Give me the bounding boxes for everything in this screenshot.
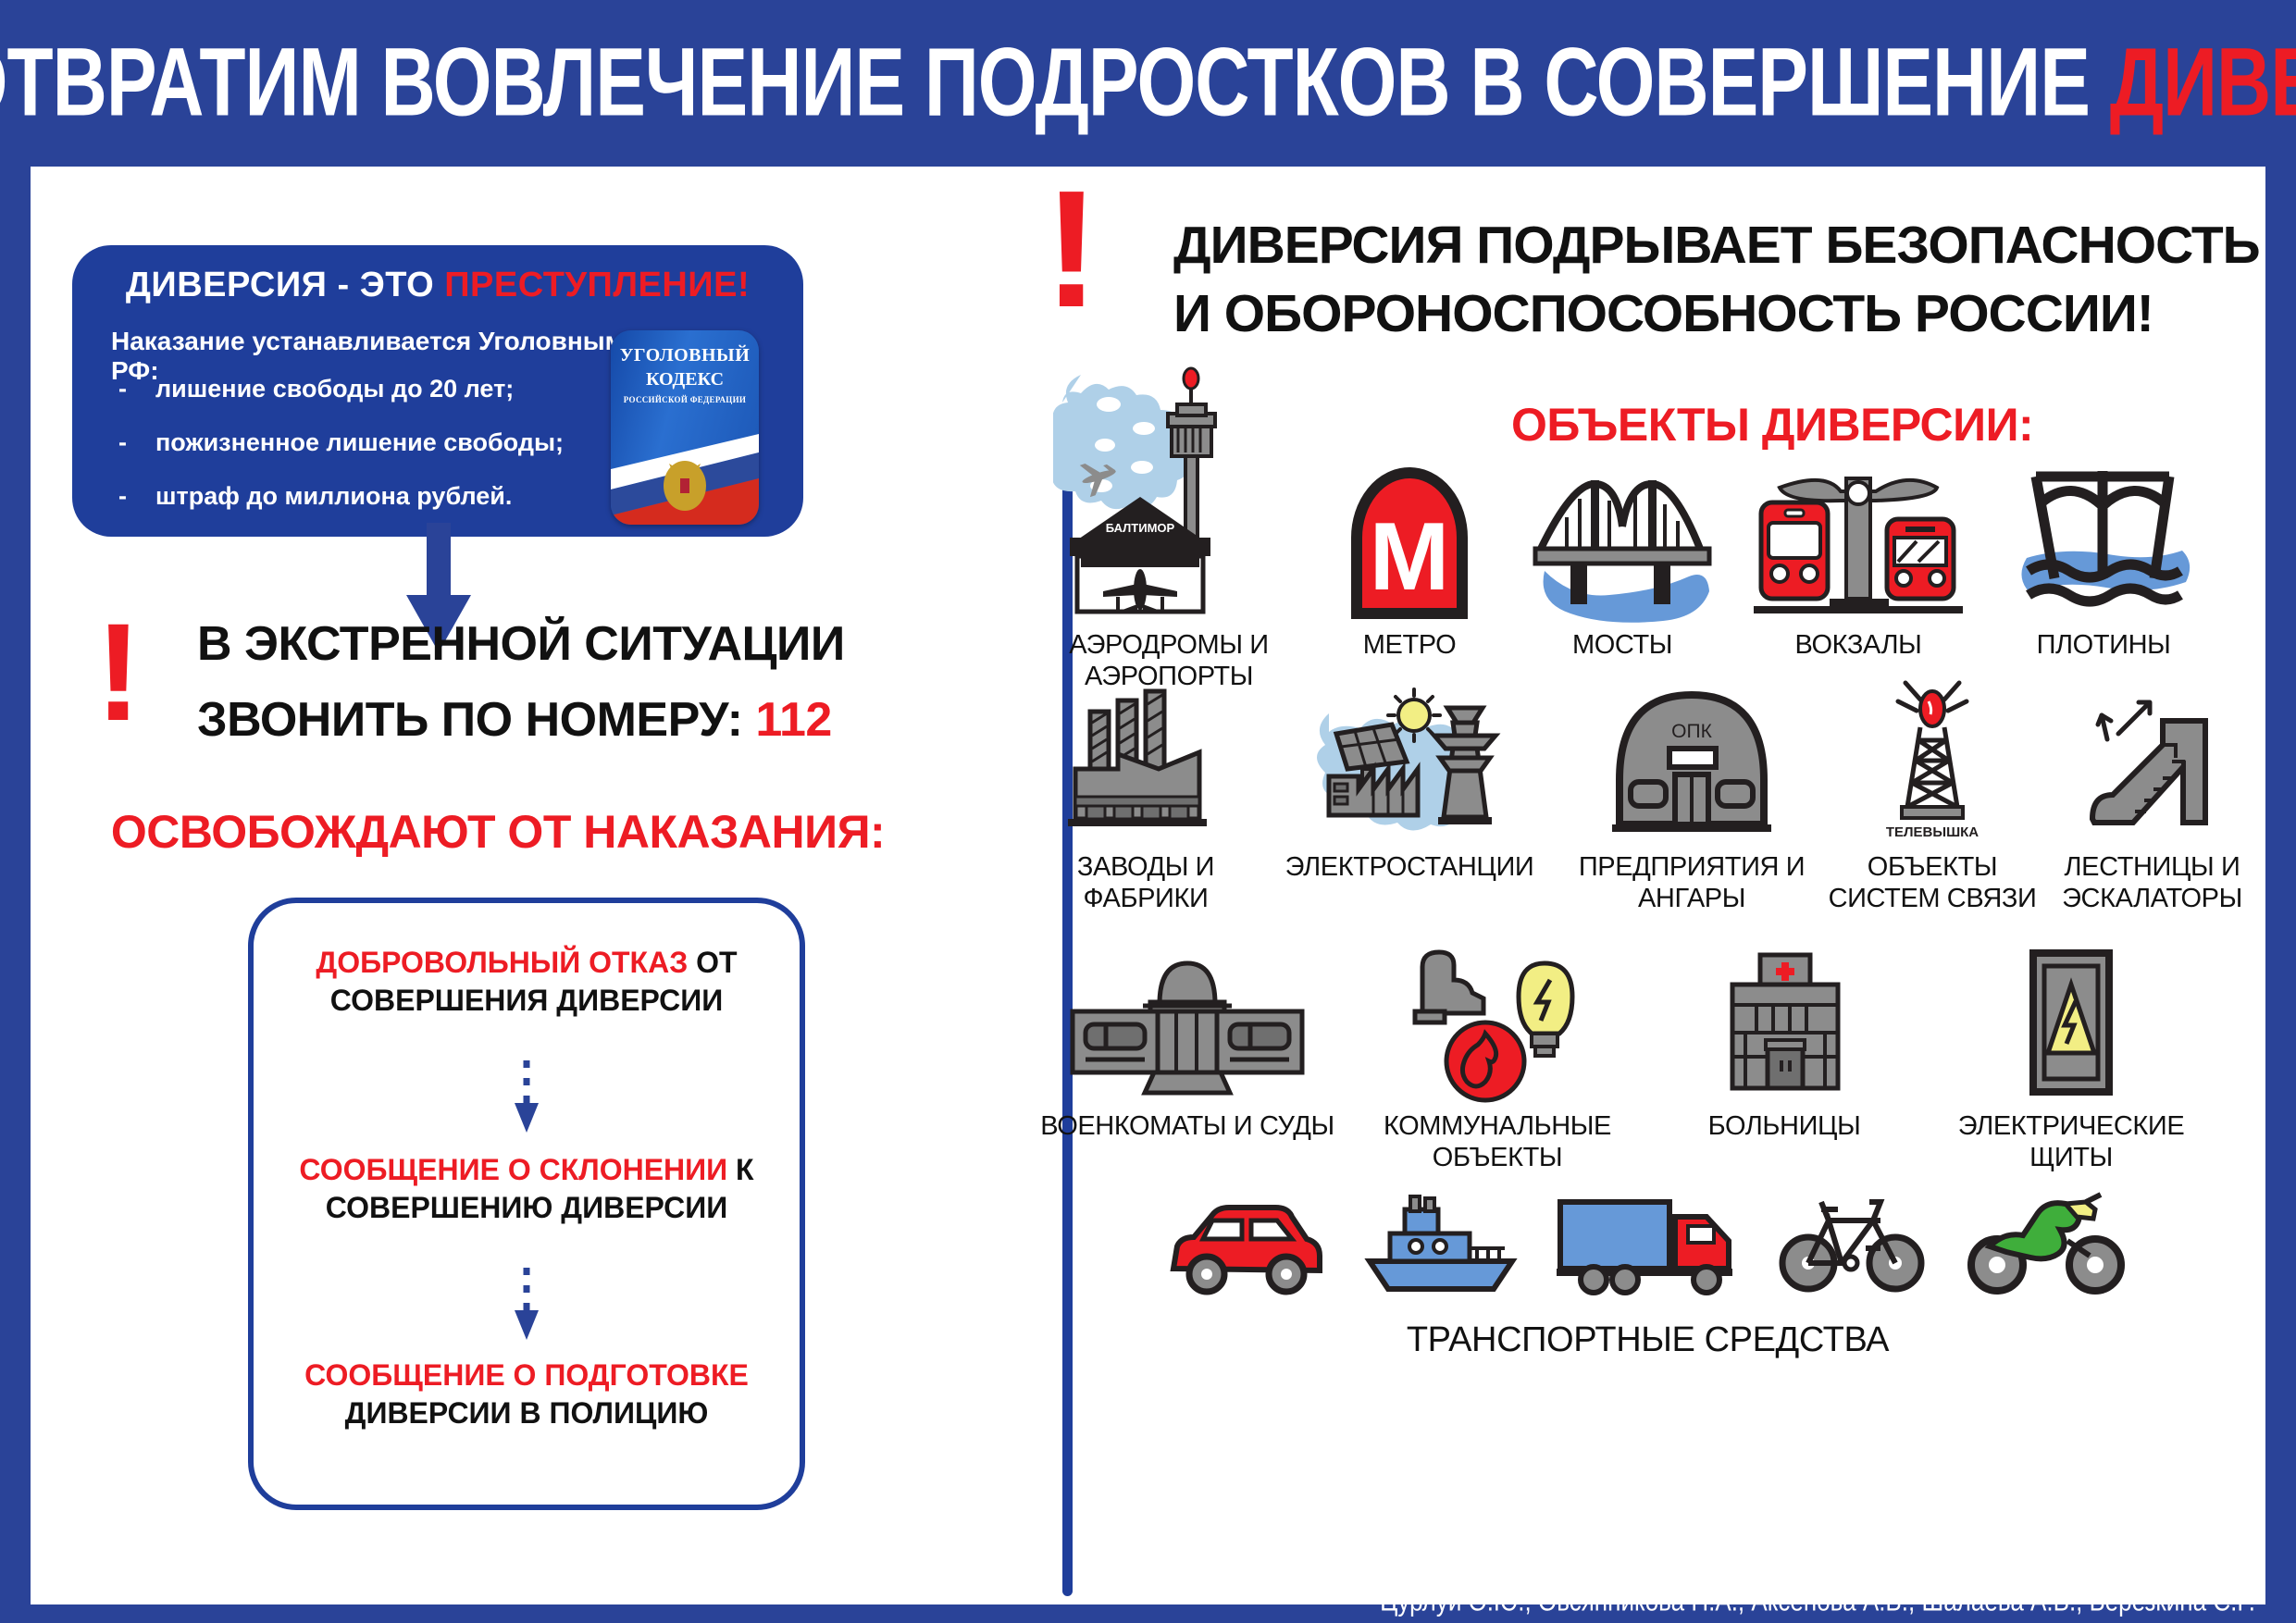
object-label: ПЛОТИНЫ <box>2037 630 2171 662</box>
emergency-line-1: В ЭКСТРЕННОЙ СИТУАЦИИ <box>197 616 845 672</box>
list-item: лишение свободы до 20 лет; <box>111 375 592 403</box>
release-step-3: СООБЩЕНИЕ О ПОДГОТОВКЕ ДИВЕРСИИ В ПОЛИЦИ… <box>254 1357 800 1432</box>
object-label: ЗАВОДЫ ИФАБРИКИ <box>1077 852 1214 914</box>
poster-body: ДИВЕРСИЯ - ЭТО ПРЕСТУПЛЕНИЕ! Наказание у… <box>31 167 2265 1604</box>
train-station-icon <box>1752 356 1965 625</box>
object-label: ЛЕСТНИЦЫ ИЭСКАЛАТОРЫ <box>2062 852 2242 914</box>
dotted-down-arrow-icon <box>511 1266 542 1345</box>
object-item-power-plant: ЭЛЕКТРОСТАНЦИИ <box>1261 671 1558 914</box>
object-item-government: ВОЕНКОМАТЫ И СУДЫ <box>1030 939 1345 1173</box>
step-1-black: ОТ <box>696 946 737 979</box>
release-step-1: ДОБРОВОЛЬНЫЙ ОТКАЗ ОТ СОВЕРШЕНИЯ ДИВЕРСИ… <box>254 944 800 1020</box>
card-heading-red: ПРЕСТУПЛЕНИЕ <box>444 266 738 304</box>
exclamation-icon: ! <box>95 618 142 726</box>
step-2-line2: СОВЕРШЕНИЮ ДИВЕРСИИ <box>326 1191 727 1224</box>
objects-row-3: ВОЕНКОМАТЫ И СУДЫ <box>1030 939 2265 1173</box>
page-title: ПРЕДОТВРАТИМ ВОВЛЕЧЕНИЕ ПОДРОСТКОВ В СОВ… <box>0 28 2296 139</box>
list-item: пожизненное лишение свободы; <box>111 428 592 457</box>
left-column: ДИВЕРСИЯ - ЭТО ПРЕСТУПЛЕНИЕ! Наказание у… <box>31 167 1030 1604</box>
title-main: ПРЕДОТВРАТИМ ВОВЛЕЧЕНИЕ ПОДРОСТКОВ В СОВ… <box>0 29 2110 136</box>
objects-row-1: БАЛТИМОР АЭРОДРОМЫ ИАЭРОПОРТЫ <box>1030 356 2265 692</box>
government-building-icon <box>1058 939 1317 1106</box>
exclamation-icon: ! <box>1044 190 1099 310</box>
airport-hangar-icon: БАЛТИМОР <box>1053 356 1285 625</box>
list-item: штраф до миллиона рублей. <box>111 482 592 511</box>
object-item-airport: БАЛТИМОР АЭРОДРОМЫ ИАЭРОПОРТЫ <box>1030 356 1308 692</box>
motorcycle-icon <box>1958 1189 2134 1305</box>
suspension-bridge-icon <box>1530 356 1715 625</box>
step-1-line2: СОВЕРШЕНИЯ ДИВЕРСИИ <box>330 984 723 1017</box>
electrical-panel-icon <box>2002 939 2141 1106</box>
object-item-comms-tower: ТЕЛЕВЫШКА ОБЪЕКТЫСИСТЕМ СВЯЗИ <box>1826 671 2039 914</box>
car-icon <box>1162 1198 1329 1305</box>
emergency-line-2: ЗВОНИТЬ ПО НОМЕРУ: 112 <box>197 692 832 748</box>
truck-icon <box>1551 1189 1745 1305</box>
object-item-hospital: БОЛЬНИЦЫ <box>1650 939 1918 1173</box>
object-label: ПРЕДПРИЯТИЯ ИАНГАРЫ <box>1579 852 1805 914</box>
object-label: ЭЛЕКТРОСТАНЦИИ <box>1285 852 1534 884</box>
radio-tower-icon: ТЕЛЕВЫШКА <box>1863 671 2002 847</box>
hospital-icon <box>1692 939 1877 1106</box>
object-item-bridge: МОСТЫ <box>1511 356 1733 692</box>
title-highlight: ДИВЕРСИЙ <box>2110 29 2296 136</box>
object-item-dam: ПЛОТИНЫ <box>1983 356 2224 692</box>
metro-m-icon: M <box>1340 356 1479 625</box>
ship-icon <box>1357 1189 1523 1305</box>
metro-letter: M <box>1370 503 1450 611</box>
object-item-hangar: ОПК ПРЕДПРИЯТИЯ ИАНГАРЫ <box>1558 671 1826 914</box>
object-item-train-station: ВОКЗАЛЫ <box>1733 356 1983 692</box>
object-item-escalator: ЛЕСТНИЦЫ ИЭСКАЛАТОРЫ <box>2039 671 2265 914</box>
object-label: ВОЕНКОМАТЫ И СУДЫ <box>1040 1111 1334 1143</box>
escalator-icon <box>2074 671 2231 847</box>
step-2-red: СООБЩЕНИЕ О СКЛОНЕНИИ <box>299 1153 736 1186</box>
release-heading: ОСВОБОЖДАЮТ ОТ НАКАЗАНИЯ: <box>31 805 965 859</box>
hangar-inner-text: БАЛТИМОР <box>1106 521 1175 535</box>
object-label: КОММУНАЛЬНЫЕОБЪЕКТЫ <box>1384 1111 1611 1173</box>
object-label: ВОКЗАЛЫ <box>1795 630 1922 662</box>
card-heading: ДИВЕРСИЯ - ЭТО ПРЕСТУПЛЕНИЕ! <box>72 266 803 305</box>
utilities-icon <box>1382 939 1613 1106</box>
objects-row-4: ТРАНСПОРТНЫЕ СРЕДСТВА <box>1030 1189 2265 1360</box>
emergency-prefix: ЗВОНИТЬ ПО НОМЕРУ: <box>197 693 755 747</box>
hangar-inner-text: ОПК <box>1671 721 1712 742</box>
object-item-utilities: КОММУНАЛЬНЫЕОБЪЕКТЫ <box>1345 939 1650 1173</box>
step-1-red: ДОБРОВОЛЬНЫЙ ОТКАЗ <box>316 946 696 979</box>
security-headline: ДИВЕРСИЯ ПОДРЫВАЕТ БЕЗОПАСНОСТЬ И ОБОРОН… <box>1173 211 2261 348</box>
object-label: МЕТРО <box>1363 630 1456 662</box>
dam-icon <box>2016 356 2191 625</box>
object-item-electrical-panel: ЭЛЕКТРИЧЕСКИЕ ЩИТЫ <box>1918 939 2224 1173</box>
diversion-is-crime-card: ДИВЕРСИЯ - ЭТО ПРЕСТУПЛЕНИЕ! Наказание у… <box>72 245 803 537</box>
emergency-number: 112 <box>755 693 831 747</box>
bicycle-icon <box>1773 1189 1930 1305</box>
object-label: МОСТЫ <box>1572 630 1672 662</box>
power-plant-icon <box>1303 671 1516 847</box>
russian-flag-emblem-icon <box>611 330 759 525</box>
object-item-factory: ЗАВОДЫ ИФАБРИКИ <box>1030 671 1261 914</box>
dotted-down-arrow-icon <box>511 1059 542 1138</box>
headline-line-2: И ОБОРОНОСПОСОБНОСТЬ РОССИИ! <box>1173 279 2261 348</box>
factory-icon <box>1062 671 1229 847</box>
release-conditions-box: ДОБРОВОЛЬНЫЙ ОТКАЗ ОТ СОВЕРШЕНИЯ ДИВЕРСИ… <box>248 898 805 1510</box>
credits-text: Цурлуй О.Ю., Овсянникова Н.А., Аксенова … <box>1380 1584 2255 1618</box>
release-step-2: СООБЩЕНИЕ О СКЛОНЕНИИ К СОВЕРШЕНИЮ ДИВЕР… <box>254 1151 800 1227</box>
object-label: ЭЛЕКТРИЧЕСКИЕ ЩИТЫ <box>1918 1111 2224 1173</box>
poster-title-bar: ПРЕДОТВРАТИМ ВОВЛЕЧЕНИЕ ПОДРОСТКОВ В СОВ… <box>0 0 2296 167</box>
punishment-list: лишение свободы до 20 лет; пожизненное л… <box>111 375 592 536</box>
right-column: ! ДИВЕРСИЯ ПОДРЫВАЕТ БЕЗОПАСНОСТЬ И ОБОР… <box>1030 167 2265 1604</box>
card-heading-plain: ДИВЕРСИЯ - ЭТО <box>126 266 444 304</box>
emergency-call-block: ! В ЭКСТРЕННОЙ СИТУАЦИИ ЗВОНИТЬ ПО НОМЕР… <box>95 611 965 777</box>
transport-label: ТРАНСПОРТНЫЕ СРЕДСТВА <box>1407 1319 1889 1360</box>
criminal-code-book-icon: УГОЛОВНЫЙ КОДЕКС РОССИЙСКОЙ ФЕДЕРАЦИИ <box>611 330 759 525</box>
tower-inner-text: ТЕЛЕВЫШКА <box>1886 824 1979 840</box>
step-2-black: К <box>736 1153 754 1186</box>
object-item-metro: M МЕТРО <box>1308 356 1511 692</box>
step-3-red: СООБЩЕНИЕ О ПОДГОТОВКЕ <box>304 1358 749 1392</box>
object-label: ОБЪЕКТЫСИСТЕМ СВЯЗИ <box>1829 852 2037 914</box>
card-heading-suffix: ! <box>738 266 750 304</box>
headline-line-1: ДИВЕРСИЯ ПОДРЫВАЕТ БЕЗОПАСНОСТЬ <box>1173 211 2261 279</box>
objects-row-2: ЗАВОДЫ ИФАБРИКИ <box>1030 671 2265 914</box>
object-label: БОЛЬНИЦЫ <box>1708 1111 1861 1143</box>
step-3-line2: ДИВЕРСИИ В ПОЛИЦИЮ <box>345 1396 709 1430</box>
hangar-icon: ОПК <box>1599 671 1784 847</box>
